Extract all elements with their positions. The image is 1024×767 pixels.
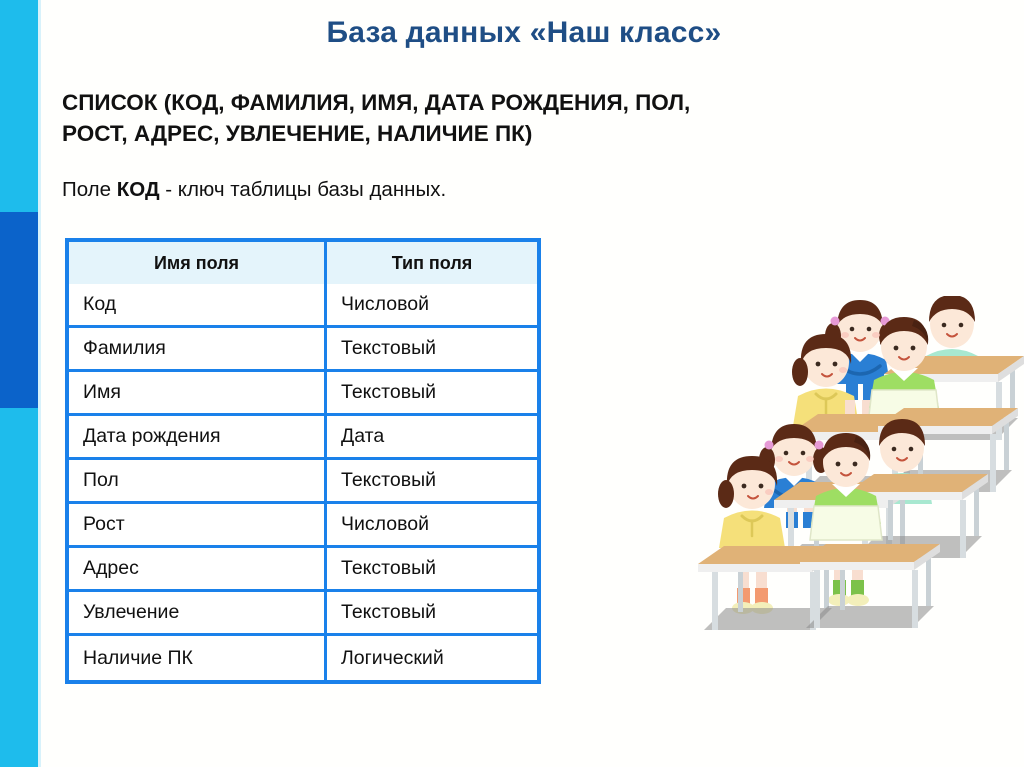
table-row: Дата рождения Дата: [69, 416, 537, 460]
field-definition-table: Имя поля Тип поля Код Числовой Фамилия Т…: [65, 238, 541, 684]
student-girl-yellow-front: [718, 456, 785, 614]
stripe-edge-highlight: [38, 0, 41, 767]
key-note-suffix: - ключ таблицы базы данных.: [160, 178, 447, 201]
desk-row-middle-front: [759, 419, 988, 566]
table-row: Наличие ПК Логический: [69, 636, 537, 680]
table-row: Код Числовой: [69, 284, 537, 328]
cell-field-name: Пол: [69, 460, 327, 504]
table-row: Увлечение Текстовый: [69, 592, 537, 636]
cell-field-name: Код: [69, 284, 327, 328]
column-header-field-name: Имя поля: [69, 242, 327, 284]
slide-root: База данных «Наш класс» СПИСОК (КОД, ФАМ…: [0, 0, 1024, 767]
table-row: Фамилия Текстовый: [69, 328, 537, 372]
slide-title: База данных «Наш класс»: [44, 16, 1004, 50]
cell-field-type: Текстовый: [327, 548, 537, 592]
cell-field-name: Дата рождения: [69, 416, 327, 460]
cell-field-name: Имя: [69, 372, 327, 416]
cell-field-name: Увлечение: [69, 592, 327, 636]
table-body: Код Числовой Фамилия Текстовый Имя Текст…: [69, 284, 537, 680]
key-field-note: Поле КОД - ключ таблицы базы данных.: [62, 177, 446, 203]
cell-field-name: Рост: [69, 504, 327, 548]
desk-front-right: [800, 544, 940, 628]
cell-field-type: Логический: [327, 636, 537, 680]
list-declaration-paragraph: СПИСОК (КОД, ФАМИЛИЯ, ИМЯ, ДАТА РОЖДЕНИЯ…: [62, 87, 748, 149]
list-declaration-line-1: СПИСОК (КОД, ФАМИЛИЯ, ИМЯ, ДАТА РОЖДЕНИЯ…: [62, 87, 748, 118]
cell-field-type: Текстовый: [327, 372, 537, 416]
table-row: Пол Текстовый: [69, 460, 537, 504]
cell-field-name: Фамилия: [69, 328, 327, 372]
cell-field-name: Адрес: [69, 548, 327, 592]
cell-field-type: Текстовый: [327, 460, 537, 504]
table-row: Имя Текстовый: [69, 372, 537, 416]
cell-field-type: Текстовый: [327, 592, 537, 636]
classroom-illustration: [688, 296, 1024, 668]
table-head: Имя поля Тип поля: [69, 242, 537, 284]
cell-field-type: Числовой: [327, 504, 537, 548]
list-declaration-line-2: РОСТ, АДРЕС, УВЛЕЧЕНИЕ, НАЛИЧИЕ ПК): [62, 118, 748, 149]
left-decorative-stripe: [0, 0, 44, 767]
column-header-field-type: Тип поля: [327, 242, 537, 284]
key-note-prefix: Поле: [62, 178, 117, 201]
key-note-field-name: КОД: [117, 178, 160, 201]
cell-field-type: Дата: [327, 416, 537, 460]
classroom-students-at-desks-icon: [688, 296, 1024, 668]
table-row: Адрес Текстовый: [69, 548, 537, 592]
cell-field-name: Наличие ПК: [69, 636, 327, 680]
stripe-dark-segment: [0, 212, 38, 408]
table-row: Рост Числовой: [69, 504, 537, 548]
cell-field-type: Текстовый: [327, 328, 537, 372]
table-header-row: Имя поля Тип поля: [69, 242, 537, 284]
cell-field-type: Числовой: [327, 284, 537, 328]
